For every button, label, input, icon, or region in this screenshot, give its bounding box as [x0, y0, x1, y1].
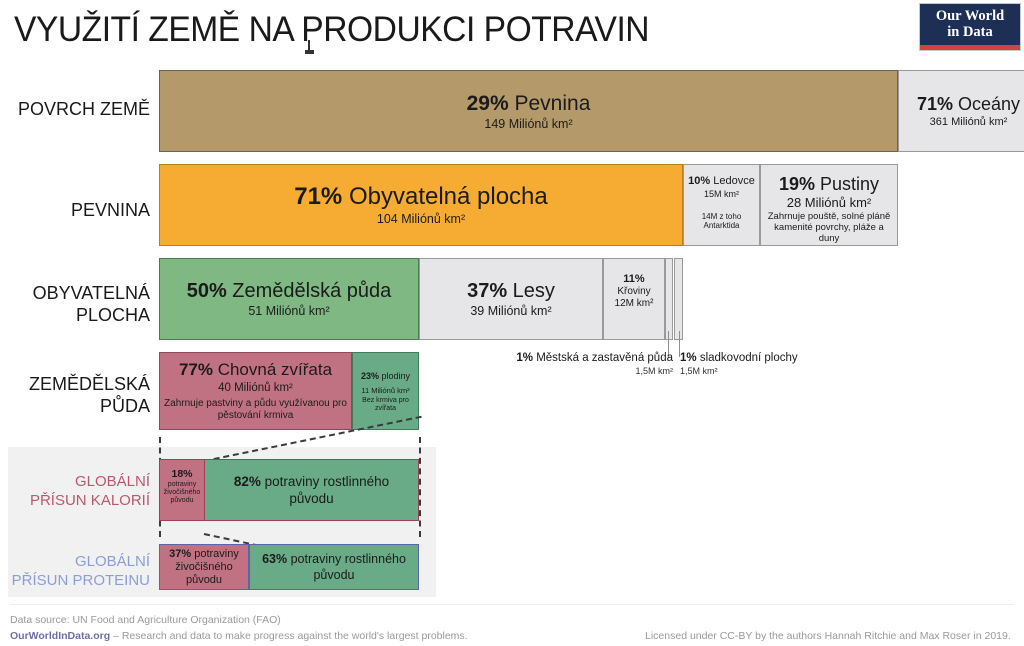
segment-value: 40 Miliónů km²: [218, 381, 293, 396]
bottom-label-calories-line1: GLOBÁLNÍ: [0, 472, 150, 491]
segment-protein-animal[interactable]: 37% potraviny živočišného původu: [159, 544, 249, 590]
segment-note: Zahrnuje pastviny a půdu využívanou pro …: [160, 398, 351, 422]
owid-link[interactable]: OurWorldInData.org: [10, 630, 110, 642]
segment-pct: 23%: [361, 371, 379, 381]
bottom-label-protein-line1: GLOBÁLNÍ: [0, 552, 150, 571]
footer-license: Licensed under CC-BY by the authors Hann…: [645, 630, 1011, 642]
segment-land[interactable]: 29% Pevnina 149 Miliónů km²: [159, 70, 898, 152]
segment-pct: 63%: [262, 552, 287, 566]
segment-name: Křoviny: [617, 287, 650, 298]
segment-name: Pustiny: [820, 174, 879, 194]
segment-name: Oceány: [958, 94, 1020, 114]
our-world-in-data-logo[interactable]: Our World in Data: [919, 3, 1021, 51]
segment-urban-land[interactable]: [665, 258, 673, 340]
callout-value: 1,5M km²: [680, 365, 830, 378]
segment-note: 14M z toho Antarktida: [684, 212, 759, 231]
mouse-cursor-icon: [305, 40, 314, 56]
segment-value: 12M km²: [615, 299, 654, 310]
segment-barren-land[interactable]: 19% Pustiny 28 Miliónů km² Zahrnuje pouš…: [760, 164, 898, 246]
logo-line-1: Our World: [920, 8, 1020, 24]
segment-oceans[interactable]: 71% Oceány 361 Miliónů km²: [898, 70, 1024, 152]
callout-freshwater: 1% sladkovodní plochy 1,5M km²: [680, 352, 830, 378]
footer-site-line: OurWorldInData.org – Research and data t…: [10, 630, 468, 642]
segment-name: potraviny rostlinného původu: [265, 474, 390, 506]
segment-note: Bez krmiva pro zvířata: [353, 397, 418, 413]
segment-freshwater[interactable]: [674, 258, 683, 340]
segment-value: 361 Miliónů km²: [930, 116, 1008, 129]
callout-pct: 1%: [516, 352, 533, 364]
row-label-line: OBYVATELNÁ PLOCHA: [33, 283, 150, 325]
bottom-label-protein-line2: PŘÍSUN PROTEINU: [0, 571, 150, 590]
segment-calories-plant[interactable]: 82% potraviny rostlinného původu: [204, 459, 419, 521]
row-label-agricultural-land: ZEMĚDĚLSKÁ PŮDA: [0, 373, 150, 417]
segment-pct: 37%: [467, 280, 507, 302]
segment-name: Pevnina: [514, 92, 590, 115]
row-label-earth-surface: POVRCH ZEMĚ: [0, 98, 150, 120]
footer-source: Data source: UN Food and Agriculture Org…: [10, 614, 281, 626]
page-title: VYUŽITÍ ZEMĚ NA PRODUKCI POTRAVIN: [14, 10, 649, 50]
segment-pct: 77%: [179, 360, 213, 379]
footer-tagline: – Research and data to make progress aga…: [113, 630, 468, 642]
segment-forests[interactable]: 37% Lesy 39 Miliónů km²: [419, 258, 603, 340]
segment-pct: 19%: [779, 174, 815, 194]
segment-glaciers[interactable]: 10% Ledovce 15M km² 14M z toho Antarktid…: [683, 164, 760, 246]
segment-calories-animal[interactable]: 18% potraviny živočišného původu: [159, 459, 205, 521]
segment-shrub[interactable]: 11% Křoviny 12M km²: [603, 258, 665, 340]
segment-pct: 71%: [294, 183, 342, 210]
segment-name: plodiny: [382, 371, 411, 381]
segment-pct: 82%: [234, 474, 261, 489]
segment-note: Zahrnuje pouště, solné pláně kamenité po…: [761, 211, 897, 244]
bottom-label-calories-line2: PŘÍSUN KALORIÍ: [0, 491, 150, 510]
segment-pct: 11%: [623, 273, 644, 285]
segment-value: 11 Miliónů km²: [361, 386, 409, 395]
callout-name: Městská a zastavěná půda: [536, 352, 673, 364]
segment-protein-plant[interactable]: 63% potraviny rostlinného původu: [249, 544, 419, 590]
segment-name: Chovná zvířata: [218, 360, 332, 379]
segment-livestock[interactable]: 77% Chovná zvířata 40 Miliónů km² Zahrnu…: [159, 352, 352, 430]
segment-name: Lesy: [513, 280, 555, 302]
callout-value: 1,5M km²: [478, 365, 673, 378]
bottom-label-calories: GLOBÁLNÍ PŘÍSUN KALORIÍ: [0, 472, 150, 510]
segment-value: 39 Miliónů km²: [470, 304, 551, 319]
callout-pct: 1%: [680, 352, 697, 364]
segment-pct: 37%: [169, 548, 191, 560]
segment-pct: 29%: [467, 92, 509, 115]
segment-habitable-land[interactable]: 71% Obyvatelná plocha 104 Miliónů km²: [159, 164, 683, 246]
infographic-canvas: VYUŽITÍ ZEMĚ NA PRODUKCI POTRAVIN Our Wo…: [0, 0, 1024, 646]
segment-value: 104 Miliónů km²: [377, 212, 465, 227]
segment-name: potraviny živočišného původu: [160, 481, 204, 505]
segment-name: Obyvatelná plocha: [349, 183, 548, 210]
row-label-habitable-land: OBYVATELNÁ PLOCHA: [0, 282, 150, 326]
dash-right-guide: [419, 437, 421, 537]
callout-urban-land: 1% Městská a zastavěná půda 1,5M km²: [478, 352, 673, 378]
segment-pct: 71%: [917, 94, 953, 114]
segment-value: 51 Miliónů km²: [248, 304, 329, 319]
segment-pct: 10%: [688, 175, 710, 187]
segment-name: potraviny rostlinného původu: [291, 552, 406, 582]
segment-value: 15M km²: [704, 189, 739, 200]
footer-divider: [10, 604, 1014, 605]
logo-red-bar: [920, 45, 1020, 50]
segment-value: 149 Miliónů km²: [484, 117, 572, 132]
segment-agriculture[interactable]: 50% Zemědělská půda 51 Miliónů km²: [159, 258, 419, 340]
callout-name: sladkovodní plochy: [700, 352, 798, 364]
segment-pct: 50%: [187, 280, 227, 302]
segment-name: Ledovce: [713, 175, 755, 187]
segment-value: 28 Miliónů km²: [787, 196, 872, 209]
segment-pct: 18%: [171, 468, 192, 480]
logo-line-2: in Data: [920, 24, 1020, 40]
row-label-land: PEVNINA: [0, 199, 150, 221]
segment-name: Zemědělská půda: [232, 280, 391, 302]
bottom-label-protein: GLOBÁLNÍ PŘÍSUN PROTEINU: [0, 552, 150, 590]
